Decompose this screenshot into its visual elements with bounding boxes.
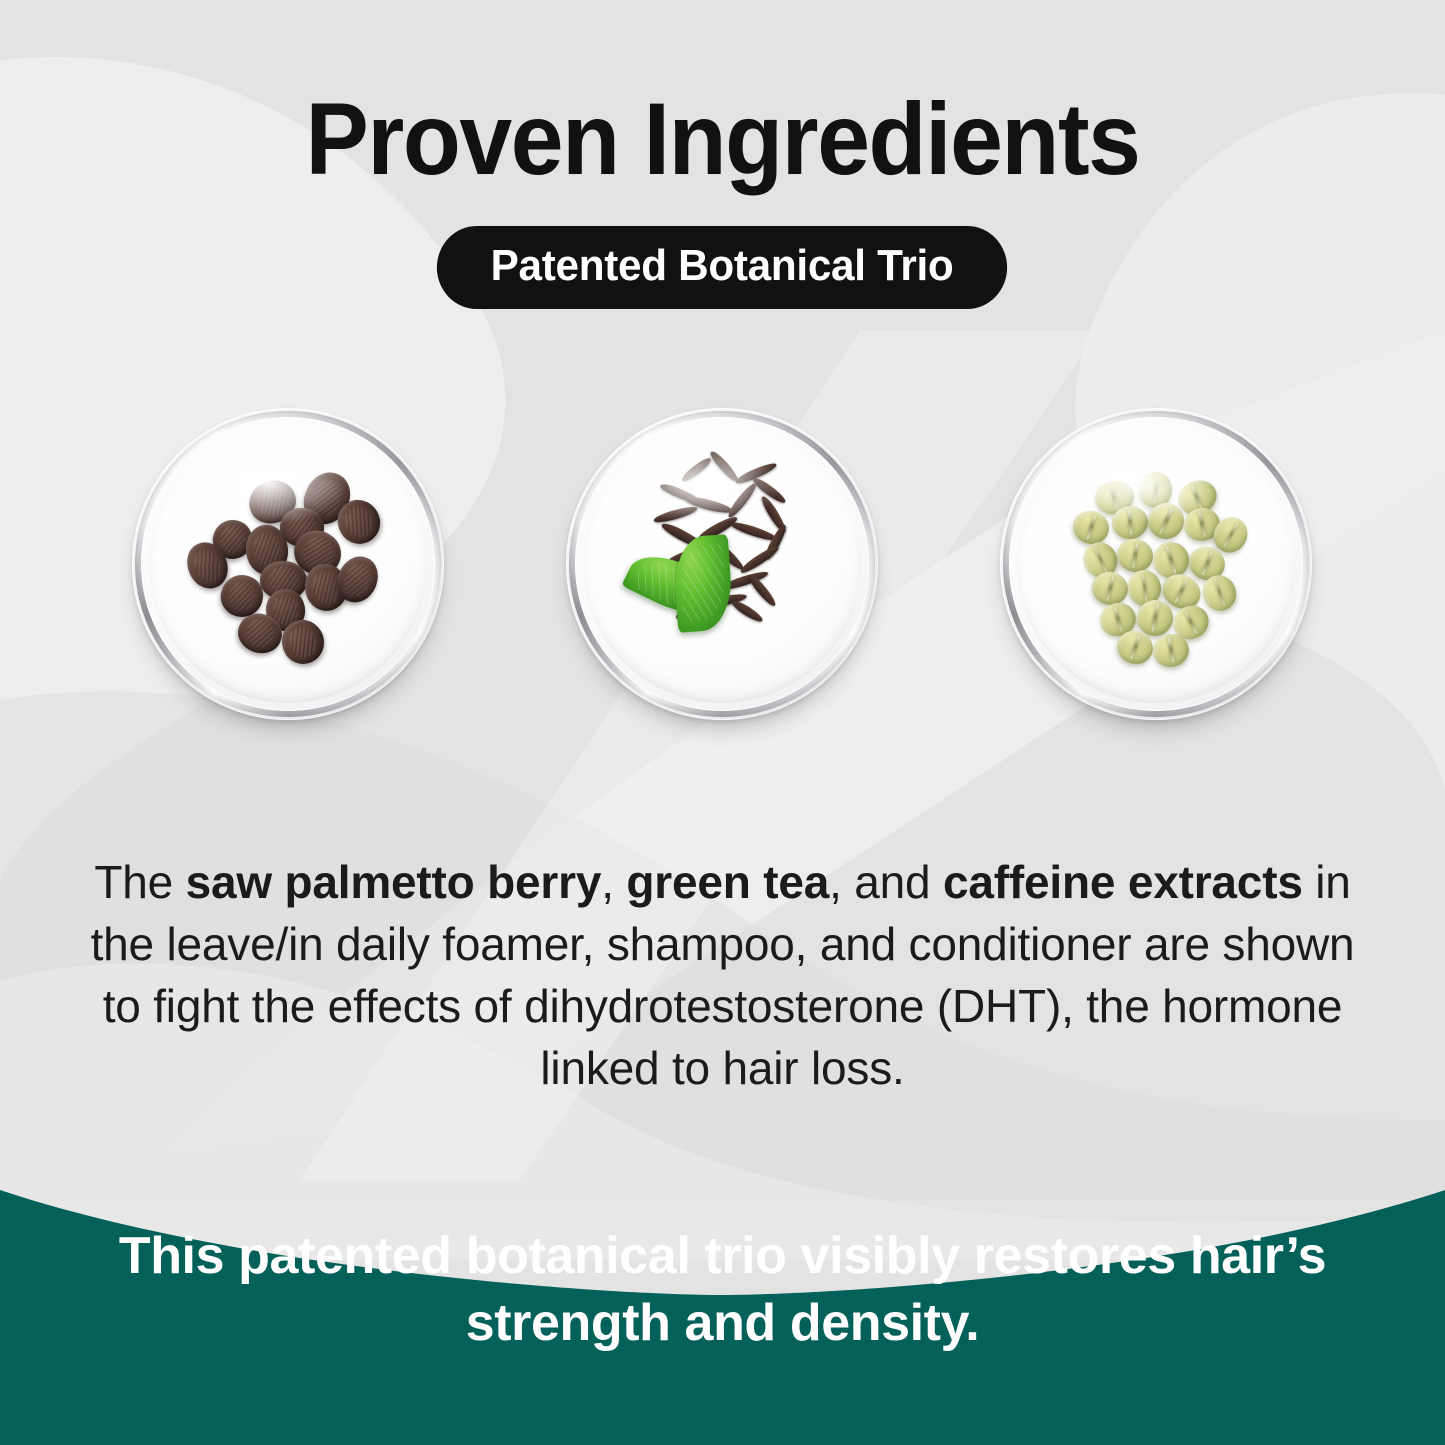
- petri-dish-well: [583, 425, 861, 703]
- ingredient-dishes-row: [0, 408, 1445, 728]
- emphasised-ingredient-name: green tea: [626, 856, 829, 908]
- coffee-bean-icon: [1114, 536, 1155, 575]
- body-text-run: , and: [829, 856, 943, 908]
- petri-dish-well: [1017, 425, 1295, 703]
- infographic-page: Proven Ingredients Patented Botanical Tr…: [0, 0, 1445, 1445]
- body-text-run: ,: [601, 856, 626, 908]
- footer-message: This patented botanical trio visibly res…: [96, 1223, 1349, 1357]
- emphasised-ingredient-name: caffeine extracts: [943, 856, 1303, 908]
- emphasised-ingredient-name: saw palmetto berry: [186, 856, 602, 908]
- patented-botanical-trio-badge: Patented Botanical Trio: [437, 226, 1007, 309]
- petri-dish-well: [149, 425, 427, 703]
- ingredient-description-paragraph: The saw palmetto berry, green tea, and c…: [72, 851, 1373, 1099]
- header: Proven Ingredients Patented Botanical Tr…: [0, 0, 1445, 309]
- footer-banner: This patented botanical trio visibly res…: [0, 1145, 1445, 1445]
- ingredient-dish-caffeine-green-coffee: [1000, 408, 1312, 720]
- badge-container: Patented Botanical Trio: [0, 226, 1445, 309]
- green-coffee-beans-group: [1017, 425, 1295, 703]
- ingredient-dish-green-tea: [566, 408, 878, 720]
- body-text-run: The: [94, 856, 185, 908]
- page-title: Proven Ingredients: [51, 0, 1395, 190]
- green-tea-group: [583, 425, 861, 703]
- saw-palmetto-berries-group: [149, 425, 427, 703]
- ingredient-dish-saw-palmetto-berry: [132, 408, 444, 720]
